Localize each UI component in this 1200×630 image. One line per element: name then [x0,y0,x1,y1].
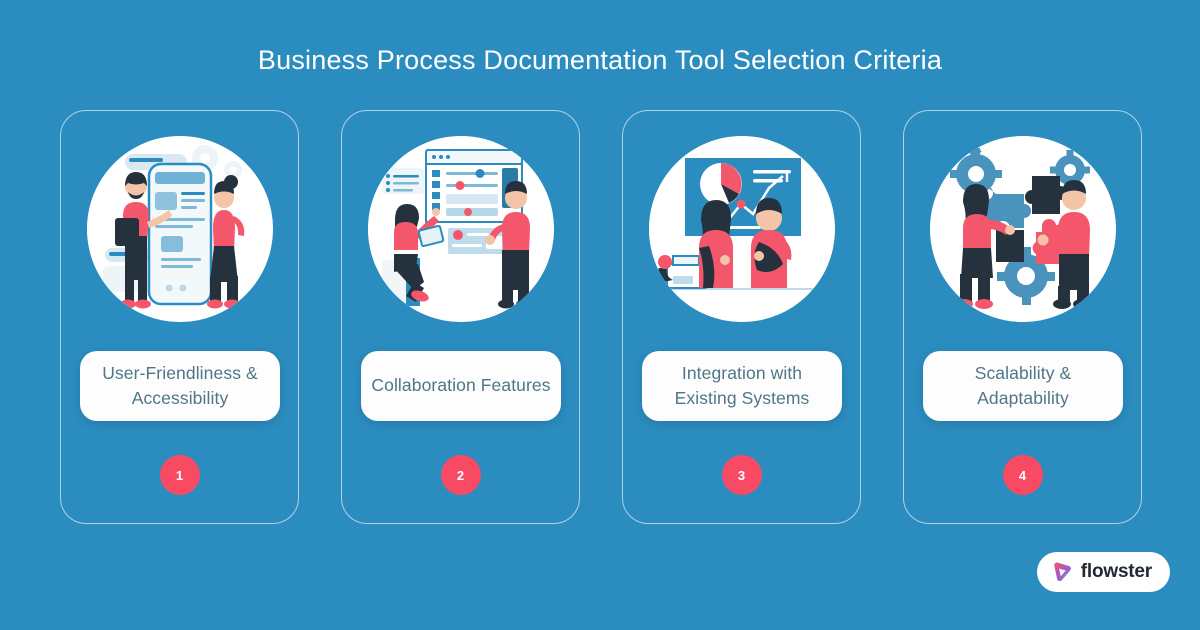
flowster-logo[interactable]: flowster [1037,552,1170,592]
criteria-number-badge: 2 [441,455,481,495]
analytics-presentation-illustration [649,136,835,322]
criteria-label-pill: User-Friendliness & Accessibility [80,351,280,421]
criteria-number-badge: 3 [722,455,762,495]
criteria-label-pill: Collaboration Features [361,351,561,421]
criteria-card[interactable]: User-Friendliness & Accessibility 1 [60,110,299,524]
criteria-number-badge: 4 [1003,455,1043,495]
page-title: Business Process Documentation Tool Sele… [0,44,1200,76]
infographic-canvas: Business Process Documentation Tool Sele… [0,0,1200,630]
flowster-arrow-mark [1051,561,1073,583]
criteria-label: Integration with Existing Systems [652,361,832,412]
criteria-card[interactable]: Integration with Existing Systems 3 [622,110,861,524]
criteria-card-list: User-Friendliness & Accessibility 1 [60,110,1142,524]
criteria-label: Collaboration Features [371,373,550,398]
criteria-label: User-Friendliness & Accessibility [90,361,270,412]
criteria-card[interactable]: Scalability & Adaptability 4 [903,110,1142,524]
team-dashboard-collaboration-illustration [368,136,554,322]
flowster-logo-text: flowster [1081,561,1152,583]
mobile-app-usability-illustration [87,136,273,322]
criteria-number-badge: 1 [160,455,200,495]
criteria-label: Scalability & Adaptability [933,361,1113,412]
criteria-label-pill: Integration with Existing Systems [642,351,842,421]
criteria-label-pill: Scalability & Adaptability [923,351,1123,421]
puzzle-gears-teamwork-illustration [930,136,1116,322]
criteria-card[interactable]: Collaboration Features 2 [341,110,580,524]
